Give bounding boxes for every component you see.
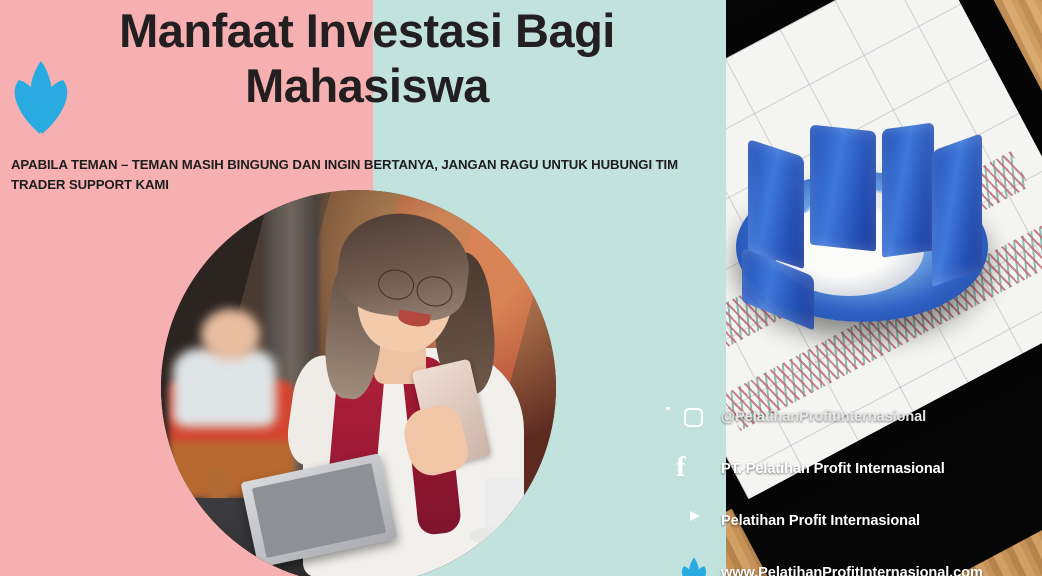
page-title: Manfaat Investasi Bagi Mahasiswa (60, 4, 674, 113)
cafe-glass (485, 478, 525, 533)
lotus-icon[interactable] (676, 556, 714, 576)
background-person-body (173, 348, 276, 427)
pie-chart-model (736, 112, 988, 364)
background-person-head (201, 309, 260, 360)
social-links: @PelatihanProfitInternasional PT. Pelati… (676, 400, 1036, 576)
pie-chart-segment (810, 125, 876, 252)
instagram-handle: @PelatihanProfitInternasional (721, 409, 926, 425)
instagram-icon[interactable] (676, 400, 714, 438)
social-row-instagram[interactable]: @PelatihanProfitInternasional (676, 400, 1036, 446)
website-url: www.PelatihanProfitInternasional.com (721, 565, 983, 576)
pie-chart-segment (882, 122, 934, 257)
youtube-icon[interactable] (676, 504, 714, 542)
pie-chart-segment (932, 133, 982, 287)
student-photo (161, 190, 556, 576)
page-subtitle: APABILA TEMAN – TEMAN MASIH BINGUNG DAN … (11, 155, 701, 195)
facebook-icon[interactable] (676, 452, 714, 490)
facebook-page-name: PT. Pelatihan Profit Internasional (721, 461, 945, 477)
social-row-facebook[interactable]: PT. Pelatihan Profit Internasional (676, 452, 1036, 498)
youtube-channel-name: Pelatihan Profit Internasional (721, 513, 920, 529)
poster-canvas: Manfaat Investasi Bagi Mahasiswa APABILA… (0, 0, 1042, 576)
social-row-website[interactable]: www.PelatihanProfitInternasional.com (676, 556, 1036, 576)
pie-chart-segment (748, 139, 804, 269)
social-row-youtube[interactable]: Pelatihan Profit Internasional (676, 504, 1036, 550)
